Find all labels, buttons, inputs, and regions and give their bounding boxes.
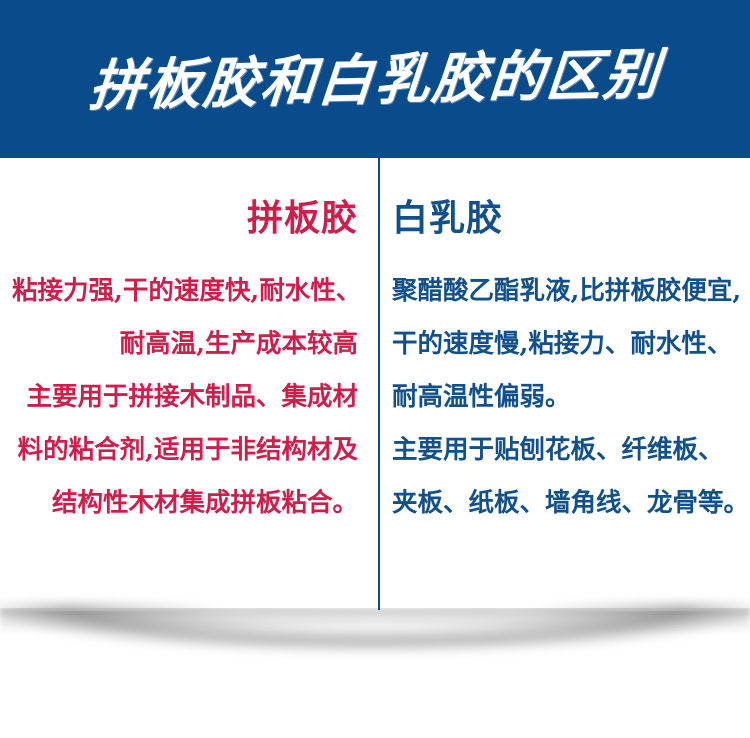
left-body-line-5: 结构性木材集成拼板粘合。 [12,477,358,530]
comparison-columns: 拼板胶 粘接力强,干的速度快,耐水性、 耐高温,生产成本较高 主要用于拼接木制品… [0,158,750,610]
product-comparison-infographic: 拼板胶和白乳胶的区别 拼板胶 粘接力强,干的速度快,耐水性、 耐高温,生产成本较… [0,0,750,738]
right-body-line-1: 聚醋酸乙酯乳液,比拼板胶便宜, [392,265,742,318]
column-right-white-latex-glue: 白乳胶 聚醋酸乙酯乳液,比拼板胶便宜, 干的速度慢,粘接力、耐水性、 耐高温性偏… [378,158,750,610]
page-floor [0,660,750,738]
comparison-card: 拼板胶 粘接力强,干的速度快,耐水性、 耐高温,生产成本较高 主要用于拼接木制品… [0,158,750,610]
right-body-line-4: 主要用于贴刨花板、纤维板、 [392,424,742,477]
left-body-line-3: 主要用于拼接木制品、集成材 [12,371,358,424]
column-left-plywood-glue: 拼板胶 粘接力强,干的速度快,耐水性、 耐高温,生产成本较高 主要用于拼接木制品… [0,158,378,610]
header-banner: 拼板胶和白乳胶的区别 [0,0,750,158]
left-body-line-2: 耐高温,生产成本较高 [12,318,358,371]
left-column-body: 粘接力强,干的速度快,耐水性、 耐高温,生产成本较高 主要用于拼接木制品、集成材… [12,265,358,530]
card-drop-shadow-core [0,608,750,634]
right-body-line-3: 耐高温性偏弱。 [392,371,742,424]
right-column-title: 白乳胶 [392,198,742,239]
left-column-title: 拼板胶 [12,198,358,239]
right-body-line-2: 干的速度慢,粘接力、耐水性、 [392,318,742,371]
page-title: 拼板胶和白乳胶的区别 [87,46,663,113]
left-body-line-1: 粘接力强,干的速度快,耐水性、 [12,265,358,318]
right-column-body: 聚醋酸乙酯乳液,比拼板胶便宜, 干的速度慢,粘接力、耐水性、 耐高温性偏弱。 主… [392,265,742,530]
left-body-line-4: 料的粘合剂,适用于非结构材及 [12,424,358,477]
right-body-line-5: 夹板、纸板、墙角线、龙骨等。 [392,477,742,530]
